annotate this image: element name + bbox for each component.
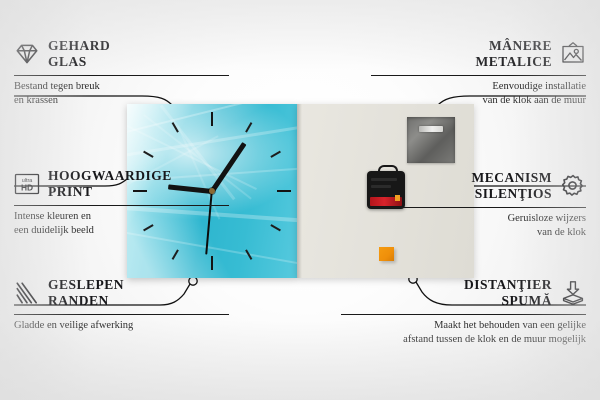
feature-desc-line1: Gladde en veilige afwerking bbox=[14, 320, 133, 331]
diamond-icon bbox=[14, 41, 40, 67]
feature-desc-line2: een duidelijk beeld bbox=[14, 225, 94, 236]
feature-desc-line1: Eenvoudige installatie bbox=[492, 81, 586, 92]
feature-title-line1: MÂNERE bbox=[489, 38, 552, 53]
feature-title-line1: DISTANŢIER bbox=[464, 277, 552, 292]
feature-title-line2: SPUMĂ bbox=[502, 293, 553, 308]
svg-text:HD: HD bbox=[21, 183, 33, 193]
feature-distantier-spuma: DISTANŢIERSPUMĂ Maakt het behouden van e… bbox=[341, 277, 586, 347]
feature-desc-line1: Geruisloze wijzers bbox=[508, 213, 586, 224]
feature-desc-line2: en krassen bbox=[14, 95, 58, 106]
feature-hoogwaardige-print: ultra HD HOOGWAARDIGEPRINT Intense kleur… bbox=[14, 168, 229, 238]
feature-desc-line2: van de klok bbox=[537, 227, 586, 238]
feature-divider bbox=[371, 75, 586, 76]
metal-hanger-plate bbox=[407, 117, 455, 163]
hanger-slot bbox=[419, 126, 443, 132]
feature-manere-metalice: MÂNEREMETALICE Eenvoudige installatievan… bbox=[371, 38, 586, 108]
feature-desc-line1: Intense kleuren en bbox=[14, 211, 91, 222]
feature-mecanism-silentios: MECANISMSILENŢIOS Geruisloze wijzersvan … bbox=[371, 170, 586, 240]
feature-title-line1: GEHARD bbox=[48, 38, 110, 53]
feature-divider bbox=[371, 207, 586, 208]
feature-desc-line2: van de klok aan de muur bbox=[482, 95, 586, 106]
feature-title-line2: RANDEN bbox=[48, 293, 109, 308]
feature-title-line2: PRINT bbox=[48, 184, 93, 199]
ultra-hd-icon: ultra HD bbox=[14, 171, 40, 197]
feature-title-line2: METALICE bbox=[475, 54, 552, 69]
feature-desc-line2: afstand tussen de klok en de muur mogeli… bbox=[403, 334, 586, 345]
feature-desc-line1: Maakt het behouden van een gelijke bbox=[434, 320, 586, 331]
feature-geslepen-randen: GESLEPENRANDEN Gladde en veilige afwerki… bbox=[14, 277, 229, 333]
picture-hanger-icon bbox=[560, 41, 586, 67]
feature-title-line1: GESLEPEN bbox=[48, 277, 124, 292]
feature-divider bbox=[14, 205, 229, 206]
bevelled-edges-icon bbox=[14, 280, 40, 306]
feature-desc-line1: Bestand tegen breuk bbox=[14, 81, 100, 92]
feature-gehard-glas: GEHARDGLAS Bestand tegen breuken krassen bbox=[14, 38, 229, 108]
feature-divider bbox=[14, 75, 229, 76]
feature-title-line1: HOOGWAARDIGE bbox=[48, 168, 172, 183]
feature-divider bbox=[341, 314, 586, 315]
feature-title-line1: MECANISM bbox=[472, 170, 553, 185]
gear-icon bbox=[560, 173, 586, 199]
feature-title-line2: GLAS bbox=[48, 54, 87, 69]
feature-title-line2: SILENŢIOS bbox=[475, 186, 552, 201]
spacer-press-icon bbox=[560, 280, 586, 306]
feature-divider bbox=[14, 314, 229, 315]
foam-spacer bbox=[379, 247, 394, 261]
infographic-stage: GEHARDGLAS Bestand tegen breuken krassen… bbox=[0, 0, 600, 400]
